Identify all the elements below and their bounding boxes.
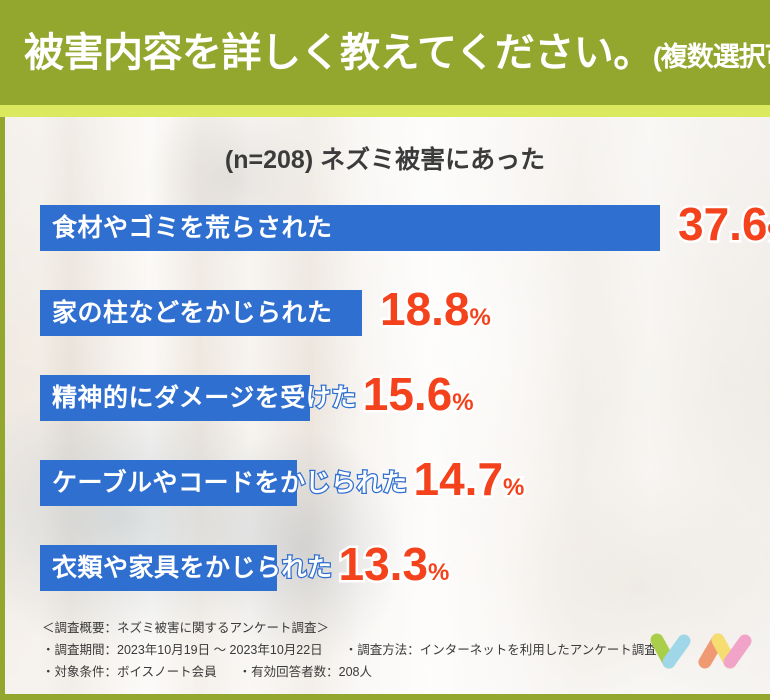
bar-value-number: 18.8 bbox=[380, 283, 470, 335]
bar-value-number: 14.7 bbox=[414, 453, 504, 505]
page-title-main: 被害内容を詳しく教えてください。 bbox=[24, 31, 653, 75]
percent-unit: % bbox=[452, 389, 473, 416]
percent-unit: % bbox=[503, 474, 524, 501]
survey-responses: ・有効回答者数：208人 bbox=[239, 665, 372, 679]
bar-value-number: 13.3 bbox=[339, 538, 429, 590]
percent-unit: % bbox=[470, 304, 491, 331]
header-bar: 被害内容を詳しく教えてください。(複数選択可能) bbox=[0, 0, 770, 105]
survey-period: ・調査期間：2023年10月19日 〜 2023年10月22日 bbox=[42, 643, 323, 657]
bar-category-label: 食材やゴミを荒らされた bbox=[40, 205, 672, 251]
chart-row: 家の柱などをかじられた 18.8% bbox=[40, 290, 491, 336]
frame-border-bottom bbox=[0, 694, 770, 700]
bar-category-label: 精神的にダメージを受けた bbox=[40, 375, 357, 421]
photo-background: 食材やゴミを荒らされた 37.6% 家の柱などをかじられた 18.8% 精神的に… bbox=[0, 117, 770, 700]
bar-value-label: 18.8% bbox=[380, 286, 491, 341]
chart-subtitle: (n=208) ネズミ被害にあった bbox=[0, 140, 770, 176]
bar-value-label: 15.6% bbox=[363, 371, 474, 426]
bar-category-label: 衣類や家具をかじられた bbox=[40, 545, 333, 591]
bar-value-label: 13.3% bbox=[339, 541, 450, 596]
survey-method: ・調査方法：インターネットを利用したアンケート調査 bbox=[345, 643, 657, 657]
survey-notes-line2: ・調査期間：2023年10月19日 〜 2023年10月22日・調査方法：インタ… bbox=[42, 640, 657, 662]
bar-value-number: 37.6 bbox=[678, 198, 768, 250]
bar-category-label: ケーブルやコードをかじられた bbox=[40, 460, 408, 506]
survey-notes: ＜調査概要：ネズミ被害に関するアンケート調査＞ ・調査期間：2023年10月19… bbox=[42, 618, 657, 684]
chart-row: 食材やゴミを荒らされた 37.6% bbox=[40, 205, 770, 251]
percent-unit: % bbox=[428, 559, 449, 586]
page-title: 被害内容を詳しく教えてください。(複数選択可能) bbox=[24, 33, 770, 73]
bar-chart: 食材やゴミを荒らされた 37.6% 家の柱などをかじられた 18.8% 精神的に… bbox=[0, 117, 770, 700]
bar-value-label: 37.6% bbox=[678, 201, 770, 256]
survey-notes-line3: ・対象条件：ボイスノート会員・有効回答者数：208人 bbox=[42, 662, 657, 684]
survey-target: ・対象条件：ボイスノート会員 bbox=[42, 665, 217, 679]
frame-border-left bbox=[0, 117, 5, 700]
survey-notes-line1: ＜調査概要：ネズミ被害に関するアンケート調査＞ bbox=[42, 618, 657, 640]
bar-value-number: 15.6 bbox=[363, 368, 453, 420]
page-title-sub: (複数選択可能) bbox=[653, 42, 770, 72]
bar-value-label: 14.7% bbox=[414, 456, 525, 511]
chart-row: 精神的にダメージを受けた 15.6% bbox=[40, 375, 474, 421]
chart-row: ケーブルやコードをかじられた 14.7% bbox=[40, 460, 524, 506]
chart-row: 衣類や家具をかじられた 13.3% bbox=[40, 545, 449, 591]
voicenote-logo-icon bbox=[648, 630, 756, 678]
header-accent-strip bbox=[0, 105, 770, 117]
infographic-root: 被害内容を詳しく教えてください。(複数選択可能) 食材やゴミを荒らされた 37.… bbox=[0, 0, 770, 700]
bar-category-label: 家の柱などをかじられた bbox=[40, 290, 374, 336]
